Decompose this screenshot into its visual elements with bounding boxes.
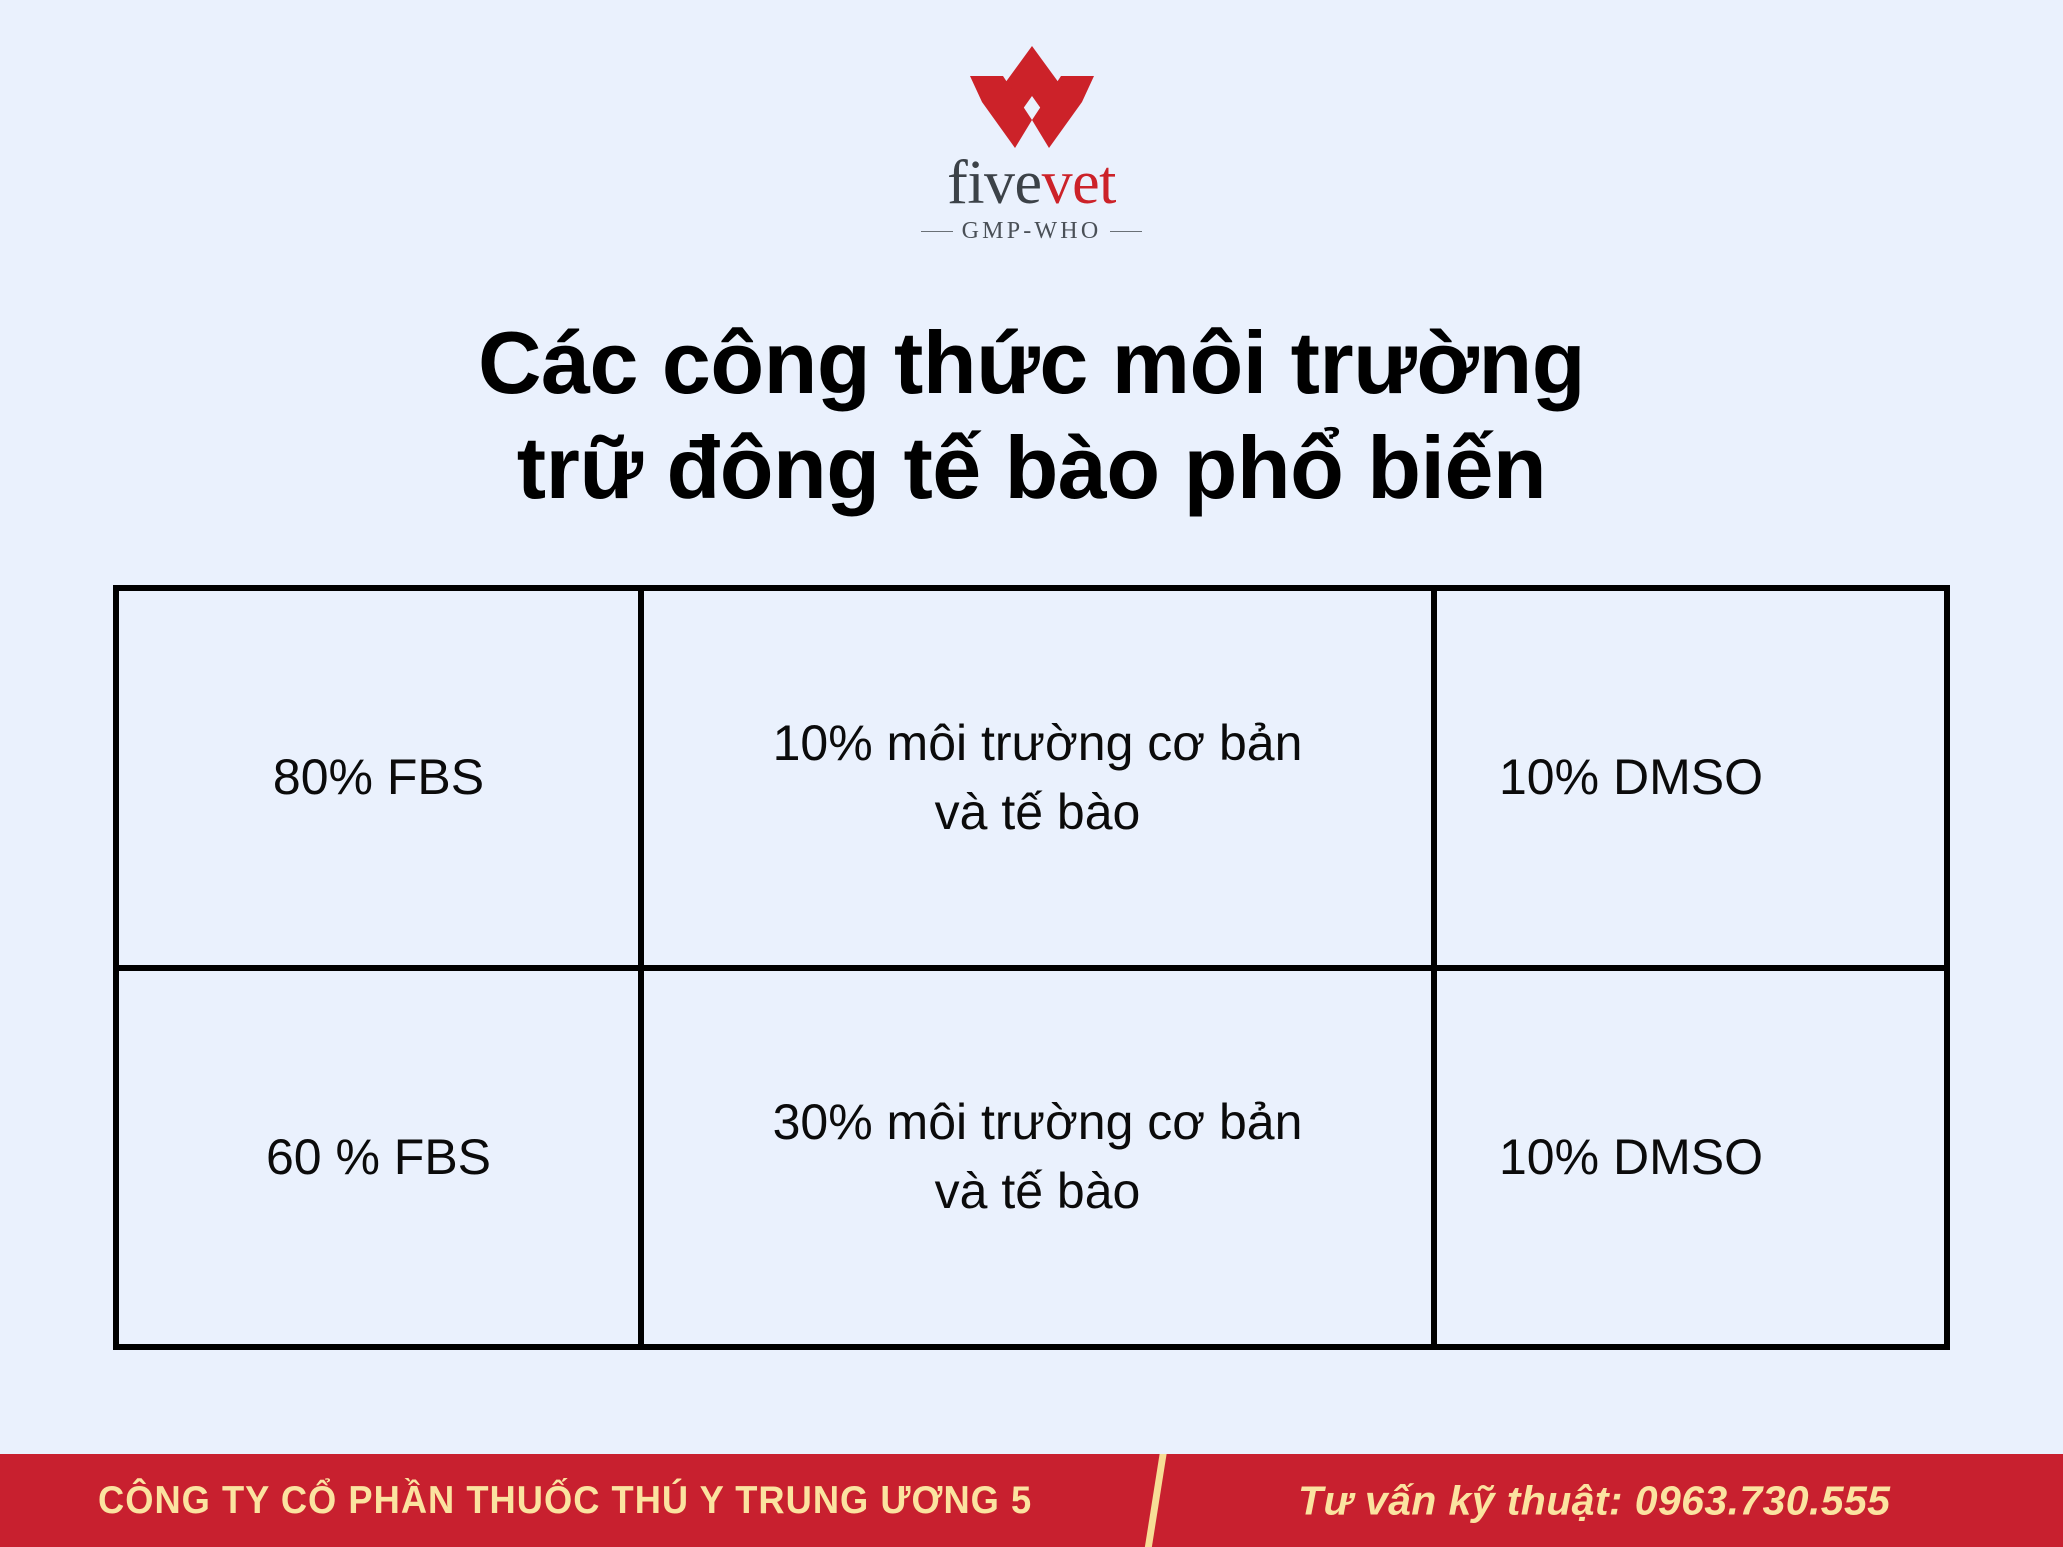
footer-contact-info: Tư vấn kỹ thuật: 0963.730.555 — [1298, 1477, 1890, 1524]
footer-company-name-text: CÔNG TY CỔ PHẦN THUỐC THÚ Y TRUNG ƯƠNG 5 — [98, 1479, 1032, 1523]
footer-divider — [1144, 1454, 1167, 1547]
table-cell-cryoprotectant: 10% DMSO — [1431, 591, 1944, 965]
logo-subtitle-rule-left — [921, 231, 953, 233]
logo-word-vet: vet — [1042, 149, 1116, 217]
formulas-table: 80% FBS 10% môi trường cơ bản và tế bào … — [113, 585, 1950, 1350]
table-cell-medium-line-1: 30% môi trường cơ bản — [773, 1094, 1303, 1150]
footer-bar: CÔNG TY CỔ PHẦN THUỐC THÚ Y TRUNG ƯƠNG 5… — [0, 1454, 2063, 1547]
page-title-line-1: Các công thức môi trường — [0, 311, 2063, 416]
table-cell-medium-line-1: 10% môi trường cơ bản — [773, 715, 1303, 771]
logo-subtitle-text: GMP-WHO — [962, 218, 1102, 245]
logo-wordmark: fivevet — [947, 152, 1116, 214]
table-cell-serum: 60 % FBS — [119, 971, 638, 1345]
table-cell-medium: 30% môi trường cơ bản và tế bào — [638, 971, 1431, 1345]
table-cell-serum: 80% FBS — [119, 591, 638, 965]
brand-logo: fivevet GMP-WHO — [0, 46, 2063, 245]
logo-subtitle: GMP-WHO — [921, 218, 1143, 245]
page-title: Các công thức môi trường trữ đông tế bào… — [0, 311, 2063, 520]
table-cell-medium: 10% môi trường cơ bản và tế bào — [638, 591, 1431, 965]
infographic-page: fivevet GMP-WHO Các công thức môi trường… — [0, 0, 2063, 1547]
logo-subtitle-rule-right — [1110, 231, 1142, 233]
table-row: 80% FBS 10% môi trường cơ bản và tế bào … — [119, 591, 1944, 965]
logo-word-five: five — [947, 149, 1041, 217]
table-cell-cryoprotectant: 10% DMSO — [1431, 971, 1944, 1345]
table-cell-medium-line-2: và tế bào — [935, 1163, 1141, 1219]
fivevet-chevron-w-mark-icon — [957, 46, 1107, 150]
footer-company-name: CÔNG TY CỔ PHẦN THUỐC THÚ Y TRUNG ƯƠNG 5 — [98, 1479, 1103, 1523]
table-cell-medium-line-2: và tế bào — [935, 784, 1141, 840]
table-row: 60 % FBS 30% môi trường cơ bản và tế bào… — [119, 965, 1944, 1345]
page-title-line-2: trữ đông tế bào phổ biến — [0, 416, 2063, 521]
